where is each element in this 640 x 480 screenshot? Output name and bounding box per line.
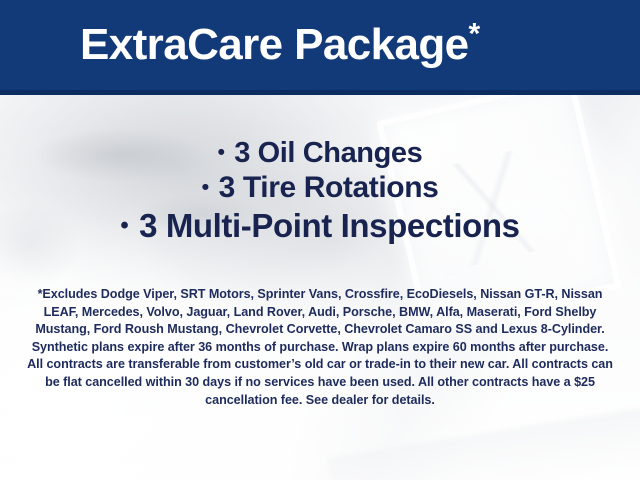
- page-title-text: ExtraCare Package: [80, 20, 469, 69]
- header-accent-stripe: [0, 90, 640, 95]
- disclaimer-text: *Excludes Dodge Viper, SRT Motors, Sprin…: [24, 286, 616, 409]
- page-title: ExtraCare Package*: [0, 23, 480, 67]
- benefit-label: 3 Oil Changes: [234, 137, 422, 169]
- bullet-icon: •: [218, 141, 225, 164]
- extracare-package-banner: ExtraCare Package* • 3 Oil Changes • 3 T…: [0, 0, 640, 480]
- benefits-list: • 3 Oil Changes • 3 Tire Rotations • 3 M…: [0, 138, 640, 246]
- list-item: • 3 Tire Rotations: [0, 172, 640, 204]
- benefit-label: 3 Multi-Point Inspections: [139, 207, 520, 244]
- benefit-label: 3 Tire Rotations: [219, 171, 439, 204]
- disclaimer-block: *Excludes Dodge Viper, SRT Motors, Sprin…: [24, 286, 616, 409]
- header-band: ExtraCare Package*: [0, 0, 640, 90]
- page-title-asterisk: *: [469, 17, 480, 50]
- bullet-icon: •: [202, 174, 209, 199]
- list-item: • 3 Oil Changes: [0, 138, 640, 169]
- bullet-icon: •: [120, 212, 128, 239]
- list-item: • 3 Multi-Point Inspections: [0, 208, 640, 244]
